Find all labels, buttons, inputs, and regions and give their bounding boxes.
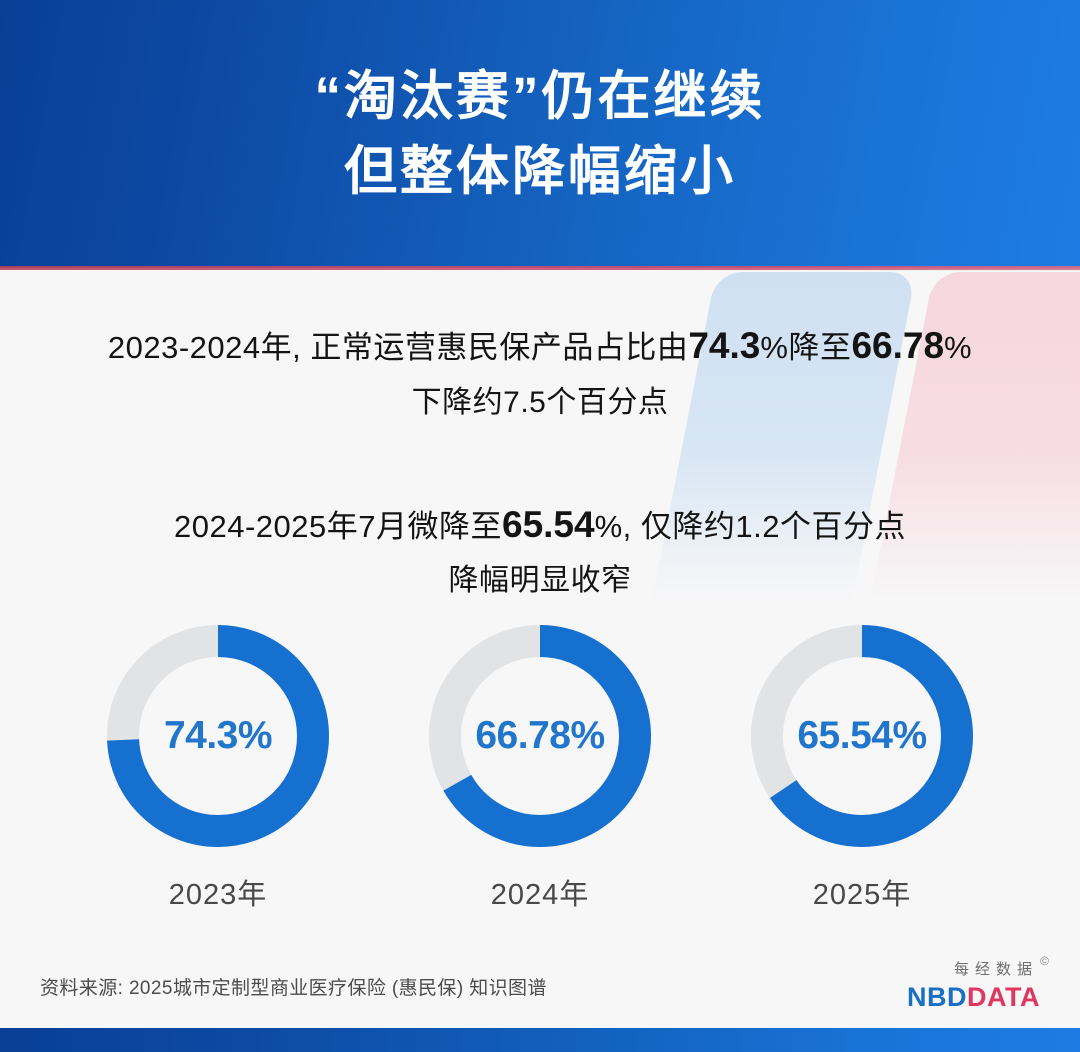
donut-value-label-2023: 74.3% [100,618,336,854]
statement-1-value-1: 74.3 [688,325,760,366]
nbd-data-logo: 每经数据© NBDDATA [907,962,1040,1011]
donut-chart-2023: 74.3% [100,618,336,854]
logo-chinese-name: 每经数据© [954,962,1040,977]
source-note: 资料来源: 2025城市定制型商业医疗保险 (惠民保) 知识图谱 [40,973,547,1000]
statement-2: 2024-2025年7月微降至65.54%, 仅降约1.2个百分点 降幅明显收窄 [0,497,1080,604]
statement-2-prefix: 2024-2025年7月微降至 [174,509,502,544]
statement-2-value-1: 65.54 [502,504,595,545]
statement-1-sub: 下降约7.5个百分点 [0,380,1080,425]
logo-data-text: DATA [967,982,1040,1012]
donut-year-label-2024: 2024年 [491,871,590,913]
statement-2-sub: 降幅明显收窄 [0,558,1080,603]
donut-chart-2024: 66.78% [422,618,658,854]
logo-nbd-text: NBD [907,982,967,1012]
copyright-icon: © [1040,955,1049,967]
statement-2-mid: %, 仅降约1.2个百分点 [595,509,906,544]
donut-chart-2025: 65.54% [744,618,980,854]
bottom-accent-bar [0,1028,1080,1052]
donut-cell-2025: 65.54% 2025年 [744,618,980,913]
donut-value-label-2024: 66.78% [422,618,658,854]
statement-1-prefix: 2023-2024年, 正常运营惠民保产品占比由 [108,330,688,365]
donut-value-label-2025: 65.54% [744,618,980,854]
donut-year-label-2023: 2023年 [169,871,268,913]
page-title-line-1: “淘汰赛”仍在继续 [315,59,766,134]
donut-cell-2023: 74.3% 2023年 [100,618,336,913]
logo-chinese-text: 每经数据 [954,961,1038,978]
page-title-line-2: 但整体降幅缩小 [344,134,736,209]
statement-1-mid: %降至 [760,330,851,365]
statement-1-suffix: % [944,330,972,365]
header-banner: “淘汰赛”仍在继续 但整体降幅缩小 [0,0,1080,268]
infographic-poster: “淘汰赛”仍在继续 但整体降幅缩小 2023-2024年, 正常运营惠民保产品占… [0,0,1080,1052]
statement-1-main: 2023-2024年, 正常运营惠民保产品占比由74.3%降至66.78% [0,318,1080,374]
statement-1: 2023-2024年, 正常运营惠民保产品占比由74.3%降至66.78% 下降… [0,318,1080,425]
statement-2-main: 2024-2025年7月微降至65.54%, 仅降约1.2个百分点 [0,497,1080,553]
header-divider [0,266,1080,270]
statement-1-value-2: 66.78 [851,325,944,366]
donut-cell-2024: 66.78% 2024年 [422,618,658,913]
donut-chart-group: 74.3% 2023年 66.78% 2024年 65.54% [0,618,1080,913]
donut-year-label-2025: 2025年 [813,871,912,913]
footer: 资料来源: 2025城市定制型商业医疗保险 (惠民保) 知识图谱 每经数据© N… [0,944,1080,1028]
logo-english-name: NBDDATA [907,984,1040,1011]
statements-block: 2023-2024年, 正常运营惠民保产品占比由74.3%降至66.78% 下降… [0,318,1080,611]
